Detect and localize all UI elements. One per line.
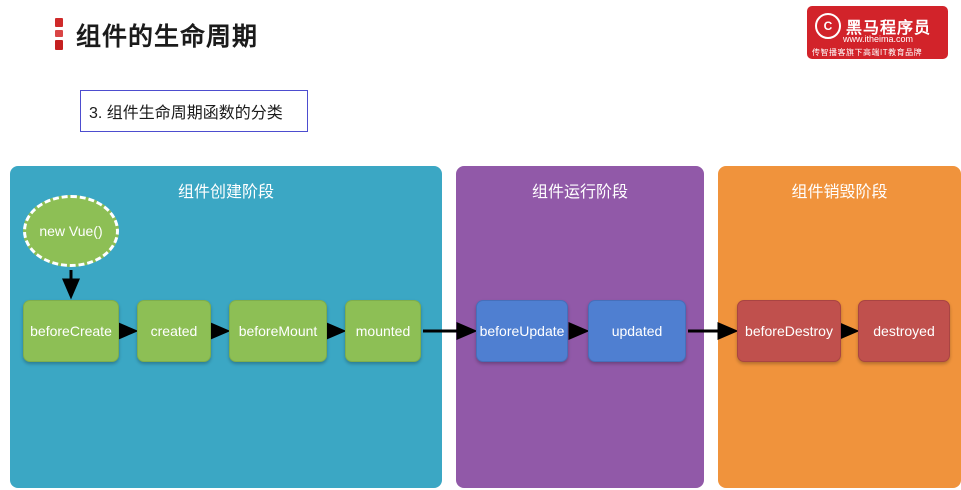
section-subtitle-text: 3. 组件生命周期函数的分类	[89, 99, 283, 123]
logo-url: www.itheima.com	[843, 34, 913, 44]
phase-run-title: 组件运行阶段	[456, 178, 704, 202]
logo-badge-icon: C	[815, 13, 841, 39]
section-subtitle-box: 3. 组件生命周期函数的分类	[80, 90, 308, 132]
node-updated: updated	[588, 300, 686, 362]
node-new-vue: new Vue()	[23, 195, 119, 267]
brand-logo: C 黑马程序员 www.itheima.com 传智播客旗下高端IT教育品牌	[807, 6, 948, 59]
logo-slogan: 传智播客旗下高端IT教育品牌	[812, 47, 922, 58]
node-created: created	[137, 300, 211, 362]
node-before-create: beforeCreate	[23, 300, 119, 362]
page-title: 组件的生命周期	[76, 17, 258, 53]
title-marker-icon	[55, 18, 63, 50]
node-before-update: beforeUpdate	[476, 300, 568, 362]
node-before-mount: beforeMount	[229, 300, 327, 362]
node-mounted: mounted	[345, 300, 421, 362]
page-header: 组件的生命周期 C 黑马程序员 www.itheima.com 传智播客旗下高端…	[0, 0, 961, 68]
phase-destroy-title: 组件销毁阶段	[718, 178, 961, 202]
node-before-destroy: beforeDestroy	[737, 300, 841, 362]
node-destroyed: destroyed	[858, 300, 950, 362]
lifecycle-diagram: 组件创建阶段 组件运行阶段 组件销毁阶段 new Vue() beforeCre…	[0, 166, 961, 490]
